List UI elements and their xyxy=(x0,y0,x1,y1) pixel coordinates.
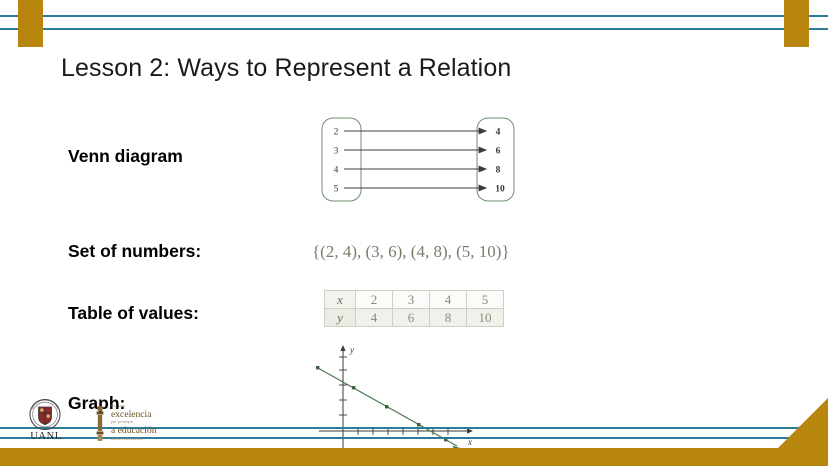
table-of-values: x 2 3 4 5 y 4 6 8 10 xyxy=(324,290,504,327)
venn-right-value-2: 8 xyxy=(496,166,501,176)
table-cell-y-1: 6 xyxy=(393,309,430,327)
excelencia-wordmark: Por una excelencia por principio a educa… xyxy=(111,404,165,442)
torch-icon xyxy=(92,404,108,444)
table-cell-y-3: 10 xyxy=(467,309,504,327)
table-cell-x-0: 2 xyxy=(356,291,393,309)
graph-point-2 xyxy=(385,405,388,408)
table-row: x 2 3 4 5 xyxy=(325,291,504,309)
uanl-logo-text: UANL xyxy=(29,431,63,442)
venn-left-value-1: 3 xyxy=(334,147,339,157)
venn-left-value-3: 5 xyxy=(334,185,339,195)
graph-point-3 xyxy=(417,423,420,426)
table-cell-x-3: 5 xyxy=(467,291,504,309)
slide-canvas: Lesson 2: Ways to Represent a Relation V… xyxy=(0,0,828,466)
set-of-numbers-value: {(2, 4), (3, 6), (4, 8), (5, 10)} xyxy=(312,242,510,262)
table-row: y 4 6 8 10 xyxy=(325,309,504,327)
label-table-of-values: Table of values: xyxy=(68,303,199,324)
gold-bar-left xyxy=(18,0,43,47)
venn-right-value-1: 6 xyxy=(496,147,501,157)
graph-x-axis-arrow xyxy=(467,428,473,433)
top-rule-1 xyxy=(0,15,828,17)
top-rule-2 xyxy=(0,28,828,30)
table-header-y: y xyxy=(325,309,356,327)
uanl-logo: UANL xyxy=(29,399,63,443)
venn-arrow-group xyxy=(344,128,486,191)
excelencia-logo: Por una excelencia por principio a educa… xyxy=(92,404,164,444)
graph-point-1 xyxy=(352,386,355,389)
bottom-gold-bar xyxy=(0,448,828,466)
uanl-crest-icon xyxy=(29,399,61,430)
graph-figure: y x xyxy=(305,341,481,460)
page-title: Lesson 2: Ways to Represent a Relation xyxy=(61,54,511,83)
venn-left-set-shape xyxy=(322,118,361,201)
table-cell-y-2: 8 xyxy=(430,309,467,327)
table-cell-x-1: 3 xyxy=(393,291,430,309)
table-cell-x-2: 4 xyxy=(430,291,467,309)
venn-diagram: 2 3 4 5 4 6 8 10 xyxy=(306,112,515,204)
venn-left-value-0: 2 xyxy=(334,128,339,138)
venn-right-value-0: 4 xyxy=(496,128,501,138)
venn-left-value-2: 4 xyxy=(334,166,339,176)
graph-point-0 xyxy=(316,366,319,369)
venn-diagram-svg: 2 3 4 5 4 6 8 10 xyxy=(306,112,515,204)
table-header-x: x xyxy=(325,291,356,309)
label-venn-diagram: Venn diagram xyxy=(68,146,183,167)
graph-svg: y x xyxy=(305,341,481,460)
graph-y-axis-label: y xyxy=(349,345,354,355)
label-set-of-numbers: Set of numbers: xyxy=(68,241,201,262)
excelencia-line-sub: como instrumento xyxy=(111,436,165,442)
excelencia-line-2: a educación xyxy=(111,425,165,436)
graph-y-axis-arrow xyxy=(340,345,345,351)
venn-right-value-3: 10 xyxy=(495,185,505,195)
gold-bar-right xyxy=(784,0,809,47)
table-cell-y-0: 4 xyxy=(356,309,393,327)
excelencia-line-1: excelencia xyxy=(111,409,165,420)
